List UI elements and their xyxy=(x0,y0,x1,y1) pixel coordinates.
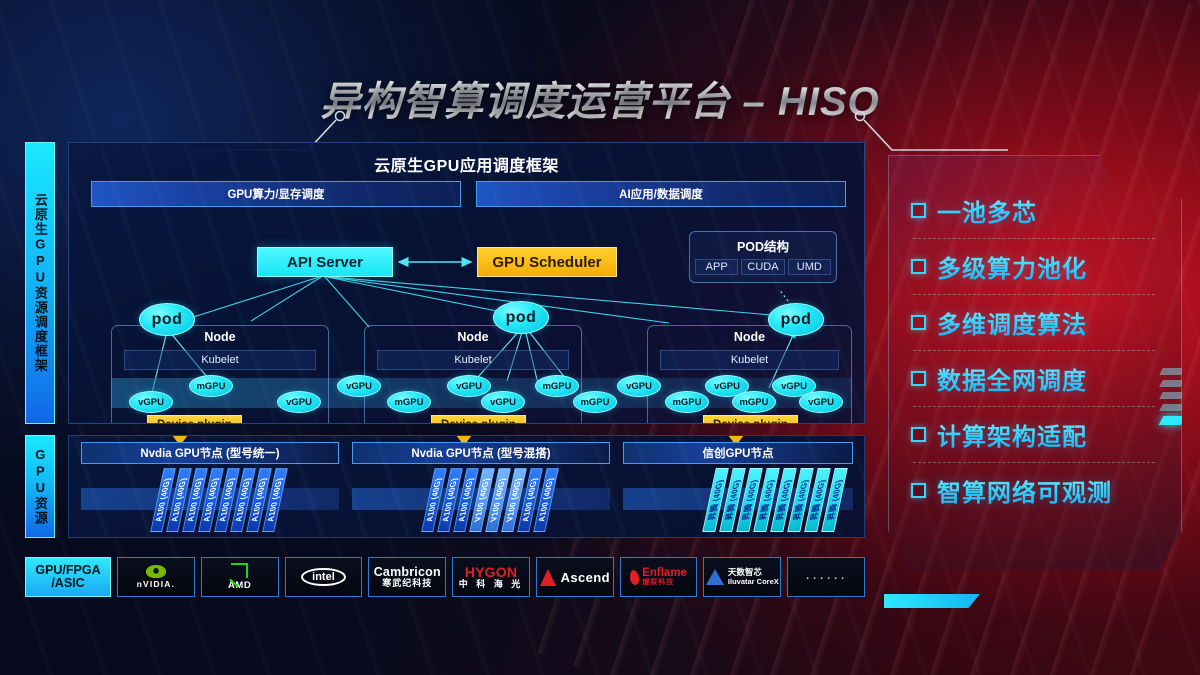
pod-layer-cuda: CUDA xyxy=(741,259,784,275)
vendor-enflame-cn: 燧原科技 xyxy=(642,579,687,586)
api-server-node[interactable]: API Server xyxy=(257,247,393,277)
vendor-intel[interactable]: intel xyxy=(285,557,363,597)
gpu-card-stack-2: A100 (40G)A100 (40G)A100 (40G)V100 (40G)… xyxy=(428,468,556,536)
feature-label: 一池多芯 xyxy=(937,193,1037,228)
gpu-group-1: Nvdia GPU节点 (型号统一) A100 (40G)A100 (40G)A… xyxy=(81,442,339,534)
iluvatar-fan-icon xyxy=(706,569,724,585)
architecture-diagram: 云原生GPU资源调度框架 GPU资源 云原生GPU应用调度框架 GPU算力/显存… xyxy=(25,142,865,612)
gpu-scheduler-node[interactable]: GPU Scheduler xyxy=(477,247,617,277)
kubelet-1: Kubelet xyxy=(124,350,316,370)
gpu-pill-vgpu[interactable]: vGPU xyxy=(129,391,173,413)
vendor-cambricon-cn: 寒武纪科技 xyxy=(374,579,441,588)
pod-structure-title: POD结构 xyxy=(690,236,836,255)
vendor-more-label: ······ xyxy=(805,569,847,586)
gpu-group-2-header: Nvdia GPU节点 (型号混搭) xyxy=(352,442,610,464)
gpu-card-label: A100 (40G) xyxy=(537,477,556,523)
feature-label: 数据全网调度 xyxy=(937,361,1087,396)
gpu-pill-mgpu[interactable]: mGPU xyxy=(189,375,233,397)
node-label-1: Node xyxy=(112,330,328,344)
amd-arrow-icon xyxy=(231,563,248,578)
checkbox-icon xyxy=(911,259,926,274)
checkbox-icon xyxy=(911,427,926,442)
feature-label: 智算网络可观测 xyxy=(937,473,1112,508)
feature-label: 计算架构适配 xyxy=(937,417,1087,452)
sidebar-label-framework: 云原生GPU资源调度框架 xyxy=(25,142,55,424)
ascend-triangle-icon xyxy=(540,569,556,586)
gpu-pill-vgpu[interactable]: vGPU xyxy=(617,375,661,397)
gpu-resource-panel: Nvdia GPU节点 (型号统一) A100 (40G)A100 (40G)A… xyxy=(68,435,865,538)
feature-label: 多维调度算法 xyxy=(937,305,1087,340)
feature-list: 一池多芯多级算力池化多维调度算法数据全网调度计算架构适配智算网络可观测 xyxy=(911,182,1163,518)
vendor-more[interactable]: ······ xyxy=(787,557,865,597)
enflame-flame-icon xyxy=(629,569,640,585)
vendor-iluvatar[interactable]: 天数智芯 Iluvatar CoreX xyxy=(703,557,781,597)
vendor-iluvatar-en: Iluvatar CoreX xyxy=(728,578,779,586)
pod-3[interactable]: pod xyxy=(768,303,824,336)
feature-label: 多级算力池化 xyxy=(937,249,1087,284)
vendor-category-line-1: /ASIC xyxy=(51,577,84,590)
gpu-group-3-header: 信创GPU节点 xyxy=(623,442,853,464)
sidebar-label-gpu-resource-text: GPU资源 xyxy=(33,447,47,526)
gpu-group-1-header: Nvdia GPU节点 (型号统一) xyxy=(81,442,339,464)
checkbox-icon xyxy=(911,483,926,498)
vendor-enflame-en: Enflame xyxy=(642,567,687,579)
feature-item-5[interactable]: 计算架构适配 xyxy=(911,406,1163,462)
kubelet-2: Kubelet xyxy=(377,350,569,370)
feature-panel: 一池多芯多级算力池化多维调度算法数据全网调度计算架构适配智算网络可观测 xyxy=(888,155,1182,592)
pod-layer-umd: UMD xyxy=(788,259,831,275)
nvidia-eye-icon xyxy=(146,565,166,578)
sidebar-label-framework-text: 云原生GPU资源调度框架 xyxy=(33,193,47,373)
gpu-pill-mgpu[interactable]: mGPU xyxy=(573,391,617,413)
vendor-hygon-cn: 中 科 海 光 xyxy=(459,580,524,589)
vendor-cambricon-en: Cambricon xyxy=(374,566,441,579)
gpu-pill-mgpu[interactable]: mGPU xyxy=(535,375,579,397)
panel-corner-accent xyxy=(884,594,980,608)
device-plugin-3[interactable]: Device plugin xyxy=(703,415,798,424)
vendor-intel-label: intel xyxy=(301,568,346,586)
gpu-pill-vgpu[interactable]: vGPU xyxy=(337,375,381,397)
vendor-hygon-en: HYGON xyxy=(459,565,524,580)
device-plugin-2[interactable]: Device plugin xyxy=(431,415,526,424)
feature-item-1[interactable]: 一池多芯 xyxy=(911,182,1163,238)
gpu-pill-vgpu[interactable]: vGPU xyxy=(799,391,843,413)
gpu-pill-vgpu[interactable]: vGPU xyxy=(481,391,525,413)
pod-structure-box: POD结构 APP CUDA UMD xyxy=(689,231,837,283)
kubelet-3: Kubelet xyxy=(660,350,839,370)
band-ai-data[interactable]: AI应用/数据调度 xyxy=(476,181,846,207)
framework-title: 云原生GPU应用调度框架 xyxy=(69,152,864,176)
vendor-ascend[interactable]: Ascend xyxy=(536,557,614,597)
gpu-group-2: Nvdia GPU节点 (型号混搭) A100 (40G)A100 (40G)A… xyxy=(352,442,610,534)
vendor-nvidia[interactable]: nVIDIA. xyxy=(117,557,195,597)
band-gpu-compute[interactable]: GPU算力/显存调度 xyxy=(91,181,461,207)
gpu-pill-vgpu[interactable]: vGPU xyxy=(277,391,321,413)
gpu-card-label: A100 (40G) xyxy=(266,477,285,523)
node-label-3: Node xyxy=(648,330,851,344)
title-decoration-right xyxy=(850,98,1010,158)
gpu-card-stack-3: 昇腾 (40G)昇腾 (40G)昇腾 (40G)昇腾 (40G)昇腾 (40G)… xyxy=(709,468,845,536)
vendor-ascend-label: Ascend xyxy=(561,570,610,585)
gpu-group-3: 信创GPU节点 昇腾 (40G)昇腾 (40G)昇腾 (40G)昇腾 (40G)… xyxy=(623,442,853,534)
checkbox-icon xyxy=(911,315,926,330)
feature-item-6[interactable]: 智算网络可观测 xyxy=(911,462,1163,518)
vendor-amd[interactable]: AMD xyxy=(201,557,279,597)
gpu-pill-mgpu[interactable]: mGPU xyxy=(665,391,709,413)
vendor-nvidia-label: nVIDIA. xyxy=(137,579,176,589)
framework-panel: 云原生GPU应用调度框架 GPU算力/显存调度 AI应用/数据调度 xyxy=(68,142,865,424)
vendor-enflame[interactable]: Enflame 燧原科技 xyxy=(620,557,698,597)
vendor-logo-bar: GPU/FPGA/ASIC nVIDIA. AMD intel Cambrico… xyxy=(25,557,865,597)
vendor-category-label: GPU/FPGA/ASIC xyxy=(25,557,111,597)
slide-title-bar: 异构智算调度运营平台 – HISO xyxy=(0,62,1200,134)
checkbox-icon xyxy=(911,203,926,218)
device-plugin-1[interactable]: Device plugin xyxy=(147,415,242,424)
gpu-card-stack-1: A100 (40G)A100 (40G)A100 (40G)A100 (40G)… xyxy=(157,468,285,536)
node-label-2: Node xyxy=(365,330,581,344)
slide-canvas: 异构智算调度运营平台 – HISO 云原生GPU资源调度框架 GPU资源 云原生… xyxy=(0,0,1200,675)
pod-layer-app: APP xyxy=(695,259,738,275)
page-title: 异构智算调度运营平台 – HISO xyxy=(320,69,879,127)
feature-item-2[interactable]: 多级算力池化 xyxy=(911,238,1163,294)
panel-tick-marks xyxy=(1161,368,1183,454)
pod-1[interactable]: pod xyxy=(139,303,195,336)
vendor-cambricon[interactable]: Cambricon 寒武纪科技 xyxy=(368,557,446,597)
gpu-card-label: 昇腾 (40G) xyxy=(824,479,844,522)
feature-item-3[interactable]: 多维调度算法 xyxy=(911,294,1163,350)
pod-2[interactable]: pod xyxy=(493,301,549,334)
feature-item-4[interactable]: 数据全网调度 xyxy=(911,350,1163,406)
checkbox-icon xyxy=(911,371,926,386)
gpu-pill-mgpu[interactable]: mGPU xyxy=(732,391,776,413)
gpu-pill-mgpu[interactable]: mGPU xyxy=(387,391,431,413)
sidebar-label-gpu-resource: GPU资源 xyxy=(25,435,55,538)
vendor-hygon[interactable]: HYGON 中 科 海 光 xyxy=(452,557,530,597)
gpu-pill-vgpu[interactable]: vGPU xyxy=(447,375,491,397)
